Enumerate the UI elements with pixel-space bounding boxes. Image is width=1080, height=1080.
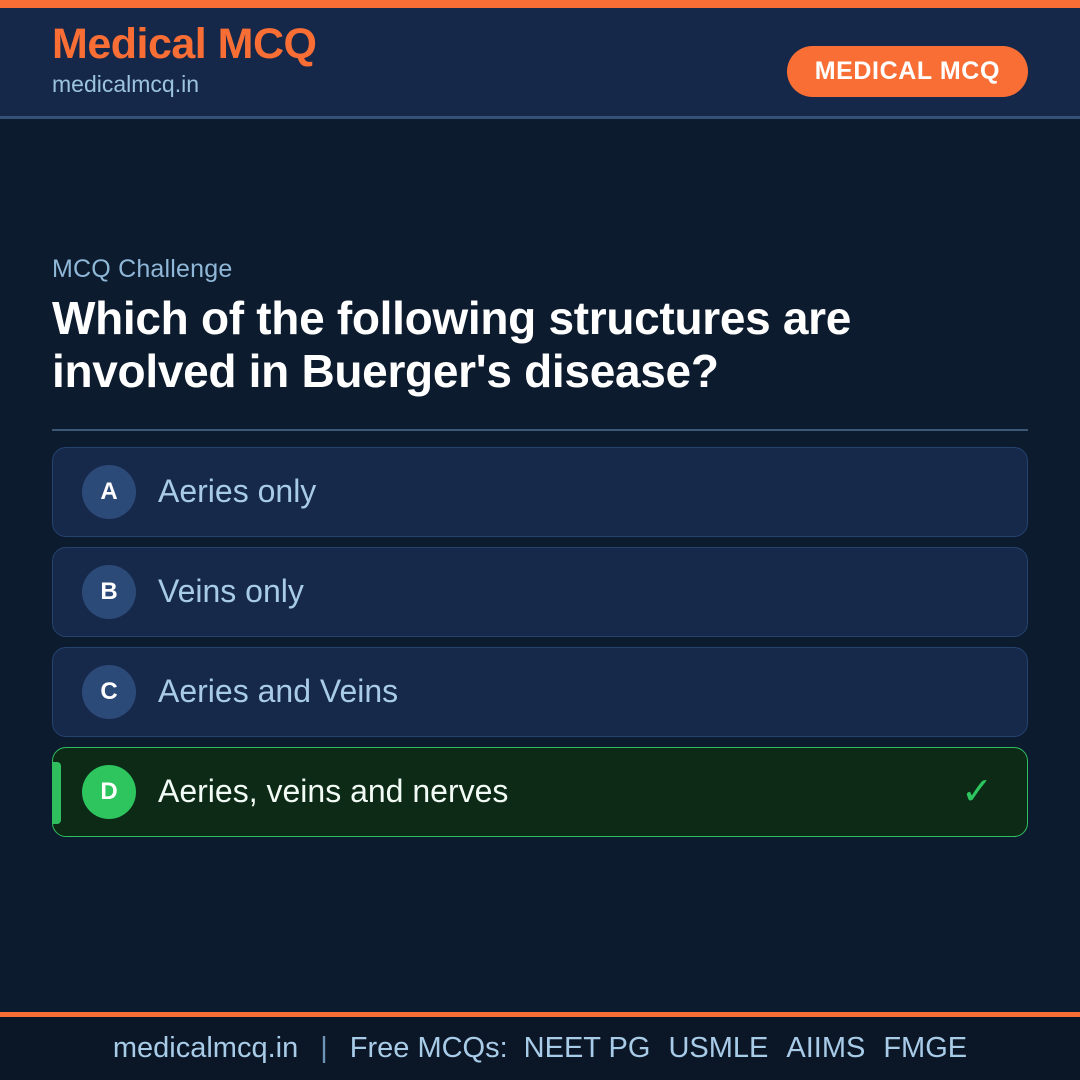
option-label: Aeries, veins and nerves: [158, 774, 508, 809]
footer-separator: |: [314, 1032, 334, 1065]
question-divider: [52, 429, 1028, 431]
footer-site: medicalmcq.in: [113, 1032, 298, 1065]
footer-exam-usmle: USMLE: [668, 1032, 768, 1065]
header-badge: MEDICAL MCQ: [787, 46, 1028, 97]
page-header: Medical MCQ medicalmcq.in MEDICAL MCQ: [0, 8, 1080, 119]
question-text: Which of the following structures are in…: [52, 292, 1012, 399]
option-letter-badge: B: [82, 565, 136, 619]
eyebrow-label: MCQ Challenge: [52, 255, 1028, 284]
check-icon: ✓: [961, 773, 993, 811]
option-letter-badge: A: [82, 465, 136, 519]
correct-accent-bar: [53, 762, 61, 824]
options-list: A Aeries only B Veins only C Aeries and …: [52, 447, 1028, 837]
option-letter-badge: D: [82, 765, 136, 819]
page-footer: medicalmcq.in | Free MCQs: NEET PG USMLE…: [0, 1012, 1080, 1080]
brand-subtitle: medicalmcq.in: [52, 71, 317, 99]
option-a[interactable]: A Aeries only: [52, 447, 1028, 537]
option-label: Veins only: [158, 574, 304, 609]
footer-exam-neetpg: NEET PG: [524, 1032, 651, 1065]
brand-title: Medical MCQ: [52, 22, 317, 67]
option-d-correct[interactable]: D Aeries, veins and nerves ✓: [52, 747, 1028, 837]
footer-content: medicalmcq.in | Free MCQs: NEET PG USMLE…: [113, 1032, 967, 1065]
footer-exam-list: NEET PG USMLE AIIMS FMGE: [524, 1032, 967, 1065]
option-label: Aeries only: [158, 474, 316, 509]
footer-exam-fmge: FMGE: [883, 1032, 967, 1065]
option-label: Aeries and Veins: [158, 674, 398, 709]
footer-exam-aiims: AIIMS: [786, 1032, 865, 1065]
brand: Medical MCQ medicalmcq.in: [52, 22, 317, 99]
option-c[interactable]: C Aeries and Veins: [52, 647, 1028, 737]
main-content: MCQ Challenge Which of the following str…: [52, 255, 1028, 847]
option-b[interactable]: B Veins only: [52, 547, 1028, 637]
option-letter-badge: C: [82, 665, 136, 719]
footer-label: Free MCQs:: [350, 1032, 508, 1065]
top-accent-bar: [0, 0, 1080, 8]
